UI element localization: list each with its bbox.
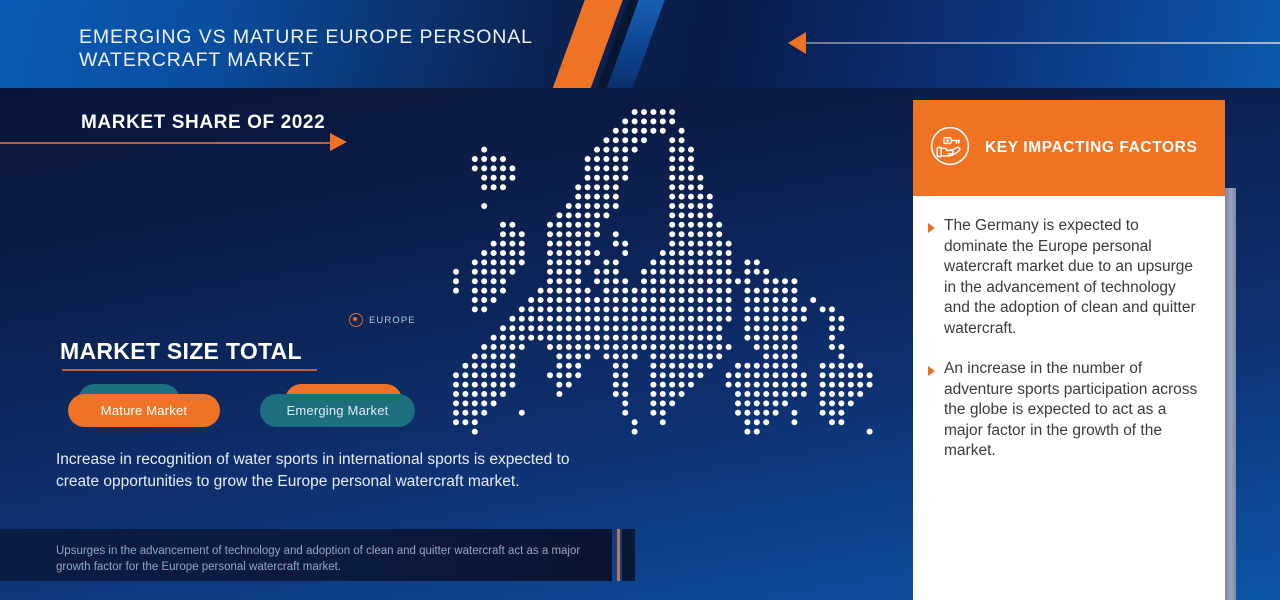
key-factors-header: KEY IMPACTING FACTORS: [913, 100, 1225, 196]
hand-holding-key-icon: [929, 125, 971, 172]
header-arrow-line: [805, 42, 1280, 44]
arrow-right-icon: [330, 133, 347, 151]
arrow-left-icon: [788, 32, 806, 54]
footer-dark-bar: [622, 529, 635, 581]
market-size-description: Increase in recognition of water sports …: [56, 449, 608, 492]
market-share-line: [0, 142, 331, 144]
key-factors-card-shadow: [1225, 188, 1236, 600]
legend-mature-market[interactable]: Mature Market: [68, 394, 220, 427]
header-arrow: [788, 32, 1280, 54]
bullet-triangle-icon: [928, 223, 935, 233]
infographic-page: EMERGING VS MATURE EUROPE PERSONAL WATER…: [0, 0, 1280, 600]
location-target-icon: [349, 313, 363, 327]
legend-emerging-market[interactable]: Emerging Market: [260, 394, 415, 427]
footer-note: Upsurges in the advancement of technolog…: [56, 543, 601, 575]
market-size-title: MARKET SIZE TOTAL: [60, 338, 302, 365]
key-factor-item: The Germany is expected to dominate the …: [928, 216, 1213, 339]
key-factor-text: An increase in the number of adventure s…: [944, 359, 1200, 462]
market-share-label: MARKET SHARE OF 2022: [81, 112, 325, 134]
market-size-underline: [62, 369, 317, 371]
key-factors-title: KEY IMPACTING FACTORS: [985, 139, 1197, 157]
footer-accent-line: [617, 529, 620, 581]
key-factor-text: The Germany is expected to dominate the …: [944, 216, 1200, 339]
europe-region-tag: EUROPE: [349, 313, 416, 327]
bullet-triangle-icon: [928, 366, 935, 376]
europe-dotted-map: [452, 108, 882, 453]
key-factors-list: The Germany is expected to dominate the …: [928, 216, 1213, 482]
key-factor-item: An increase in the number of adventure s…: [928, 359, 1213, 462]
page-title: EMERGING VS MATURE EUROPE PERSONAL WATER…: [79, 26, 549, 72]
europe-tag-label: EUROPE: [369, 315, 416, 326]
